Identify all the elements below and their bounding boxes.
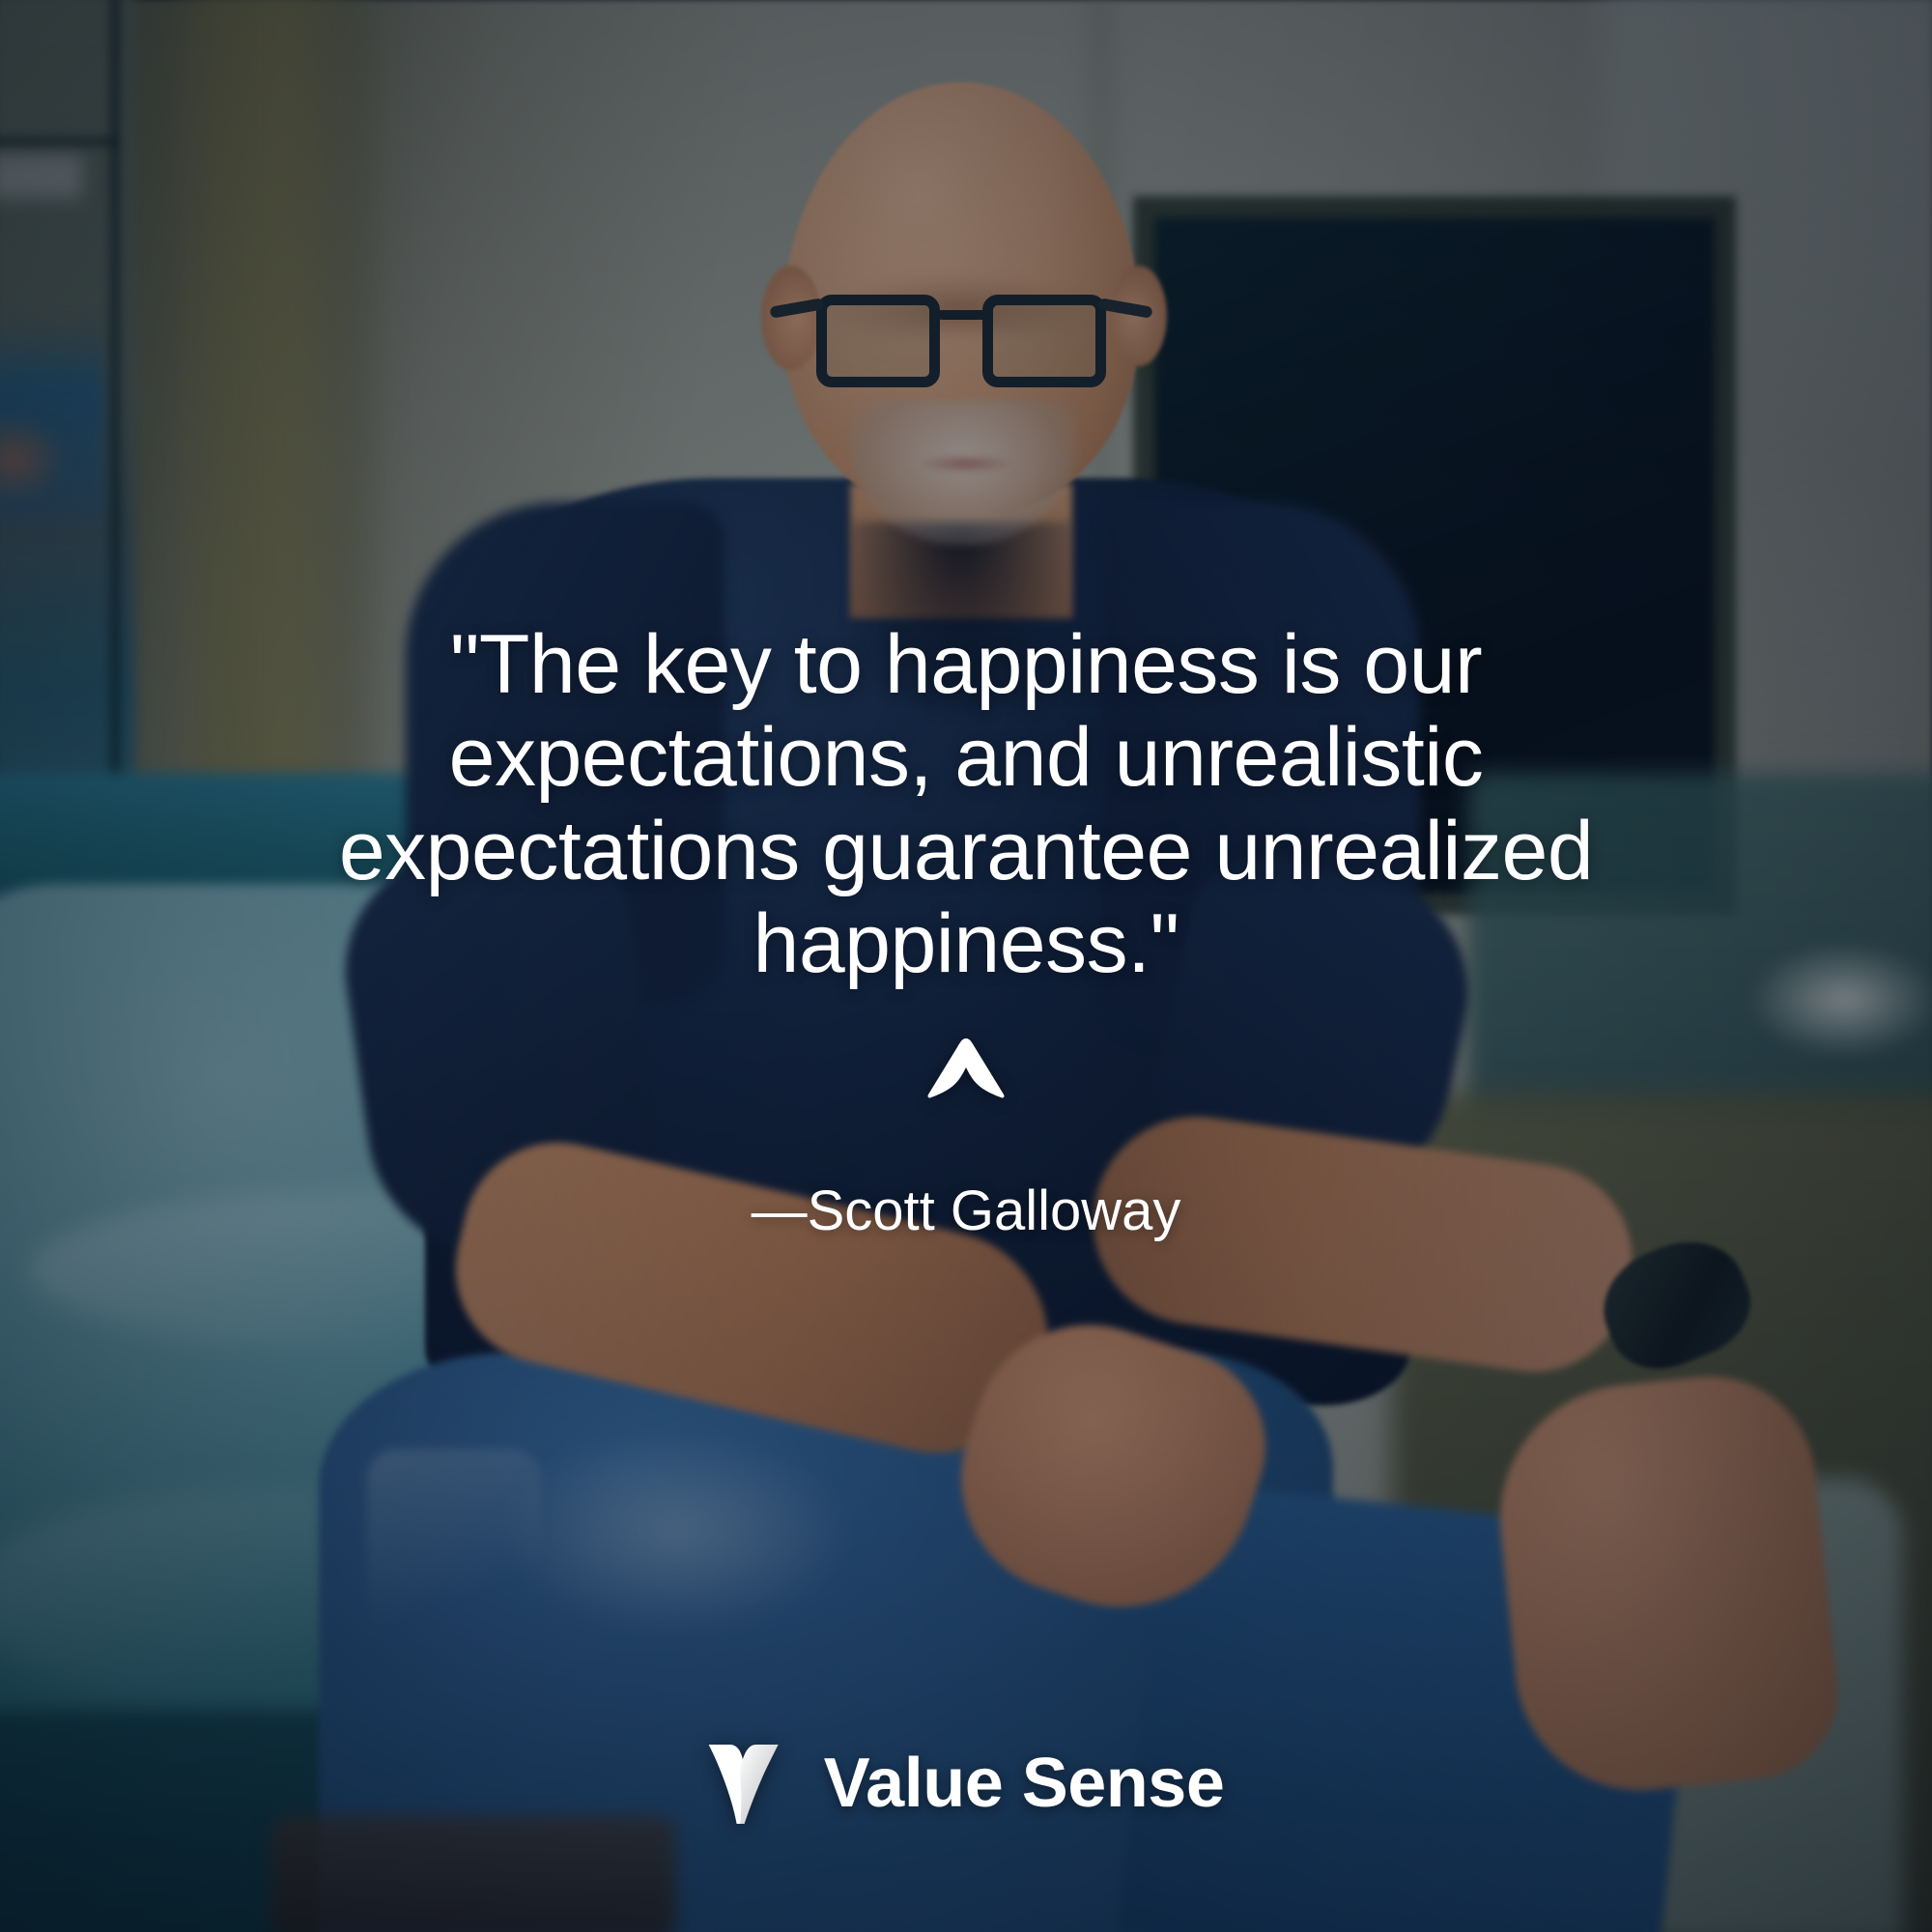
text-overlay: "The key to happiness is our expectation…: [0, 0, 1932, 1932]
divider: [923, 1032, 1009, 1101]
value-sense-logo-icon: [708, 1739, 780, 1828]
brand-lockup: Value Sense: [708, 1739, 1225, 1828]
attribution-text: —Scott Galloway: [752, 1180, 1181, 1242]
quote-text: "The key to happiness is our expectation…: [227, 618, 1705, 990]
quote-card: "The key to happiness is our expectation…: [0, 0, 1932, 1932]
chevron-up-icon: [924, 1035, 1008, 1098]
brand-name: Value Sense: [824, 1748, 1225, 1818]
